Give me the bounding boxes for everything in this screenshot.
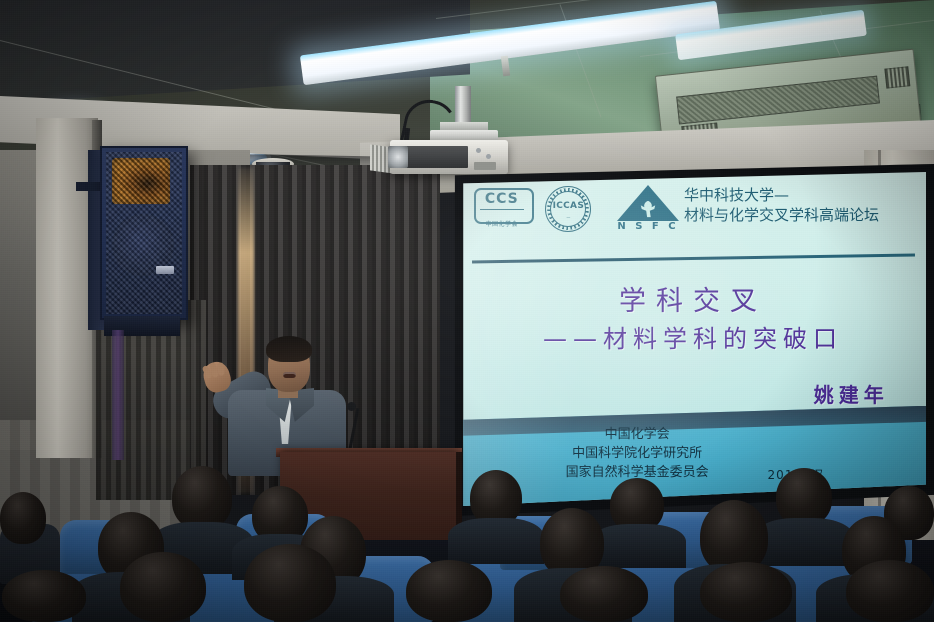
projector-knob [476,148,481,153]
projection-screen: CCS 中国化学会 ICCAS — N S F C 华中科技大学— [460,172,926,506]
audience-head [244,544,336,622]
projector-connector-panel [406,146,468,168]
projector-lens [388,146,408,168]
finger [217,362,224,376]
speaker-horn-mesh [112,158,170,204]
lecture-hall-photo: CCS 中国化学会 ICCAS — N S F C 华中科技大学— [0,0,934,622]
audience-head [560,566,648,622]
projector-label [474,162,496,170]
microphone-head [347,402,356,411]
speaker-badge [156,266,174,274]
ac-vent-grille [676,76,880,125]
ac-side-vent [884,66,910,88]
audience-head [846,560,934,622]
screen-vignette [460,172,926,506]
audience-shoulders [590,524,686,568]
audience-head [700,562,792,622]
audience-head [406,560,492,622]
audience-shoulders [448,518,544,564]
presenter-mouth [283,372,296,378]
audience-head [2,570,86,622]
audience-head [172,466,232,530]
projector-knob [486,154,491,159]
audience-shoulders [754,518,854,566]
floor-pole [112,330,124,460]
audience-head [120,552,206,622]
wall-pa-speaker [100,146,188,320]
audience-head [0,492,46,544]
presenter-hair [266,336,312,362]
